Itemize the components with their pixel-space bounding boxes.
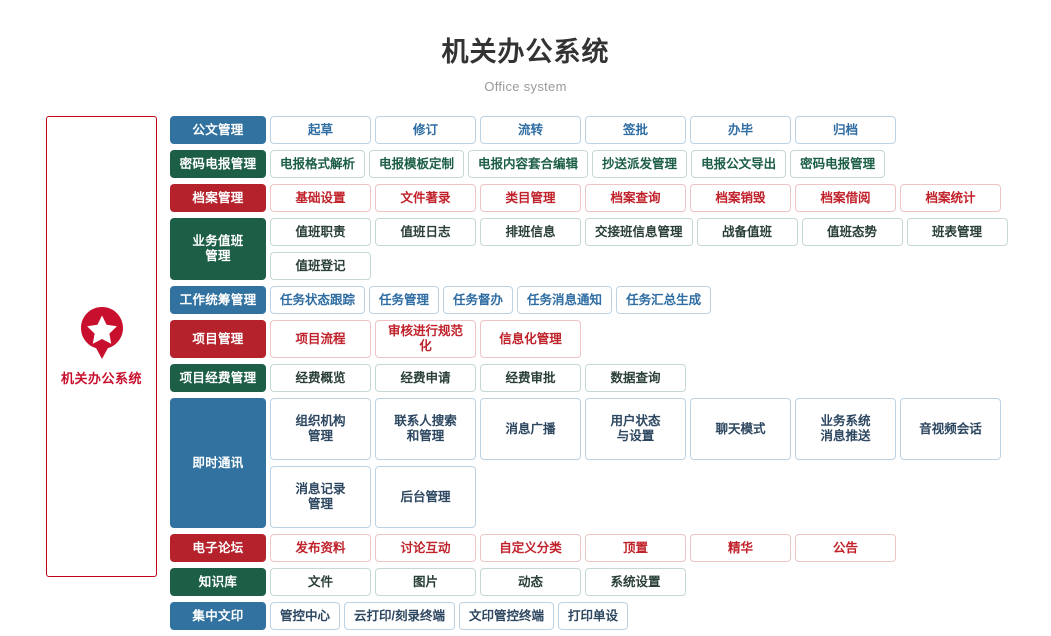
module-row-items: 电报格式解析电报模板定制电报内容套合编辑抄送派发管理电报公文导出密码电报管理 [270,150,1051,178]
module-row-label[interactable]: 档案管理 [170,184,266,212]
module-row-label[interactable]: 即时通讯 [170,398,266,528]
module-row: 密码电报管理电报格式解析电报模板定制电报内容套合编辑抄送派发管理电报公文导出密码… [170,150,1051,178]
module-button[interactable]: 聊天模式 [690,398,791,460]
module-button[interactable]: 归档 [795,116,896,144]
module-row: 项目经费管理经费概览经费申请经费审批数据查询 [170,364,1051,392]
module-items-line: 任务状态跟踪任务管理任务督办任务消息通知任务汇总生成 [270,286,1051,314]
module-items-line: 经费概览经费申请经费审批数据查询 [270,364,1051,392]
module-items-line: 起草修订流转签批办毕归档 [270,116,1051,144]
module-button[interactable]: 档案销毁 [690,184,791,212]
module-row: 集中文印管控中心云打印/刻录终端文印管控终端打印单设 [170,602,1051,630]
module-button[interactable]: 公告 [795,534,896,562]
module-row-label[interactable]: 工作统筹管理 [170,286,266,314]
module-button[interactable]: 班表管理 [907,218,1008,246]
module-items-line: 电报格式解析电报模板定制电报内容套合编辑抄送派发管理电报公文导出密码电报管理 [270,150,1051,178]
module-rows: 公文管理起草修订流转签批办毕归档密码电报管理电报格式解析电报模板定制电报内容套合… [170,116,1051,630]
module-row-items: 基础设置文件著录类目管理档案查询档案销毁档案借阅档案统计 [270,184,1051,212]
module-row-label[interactable]: 公文管理 [170,116,266,144]
module-button[interactable]: 流转 [480,116,581,144]
module-button[interactable]: 系统设置 [585,568,686,596]
module-button[interactable]: 值班职责 [270,218,371,246]
module-row-items: 发布资料讨论互动自定义分类顶置精华公告 [270,534,1051,562]
page-subtitle: Office system [0,79,1051,94]
module-button[interactable]: 交接班信息管理 [585,218,693,246]
module-button[interactable]: 基础设置 [270,184,371,212]
module-button[interactable]: 打印单设 [558,602,628,630]
module-button[interactable]: 用户状态 与设置 [585,398,686,460]
module-row-label[interactable]: 集中文印 [170,602,266,630]
module-items-line: 值班职责值班日志排班信息交接班信息管理战备值班值班态势班表管理 [270,218,1051,246]
module-button[interactable]: 战备值班 [697,218,798,246]
module-button[interactable]: 讨论互动 [375,534,476,562]
module-row: 电子论坛发布资料讨论互动自定义分类顶置精华公告 [170,534,1051,562]
module-row-label[interactable]: 项目管理 [170,320,266,358]
brand-panel: 机关办公系统 [46,116,157,577]
module-items-line: 文件图片动态系统设置 [270,568,1051,596]
module-row-items: 经费概览经费申请经费审批数据查询 [270,364,1051,392]
module-row-label[interactable]: 业务值班 管理 [170,218,266,280]
red-pin-star-icon [78,306,126,360]
module-button[interactable]: 音视频会话 [900,398,1001,460]
module-button[interactable]: 组织机构 管理 [270,398,371,460]
module-row: 工作统筹管理任务状态跟踪任务管理任务督办任务消息通知任务汇总生成 [170,286,1051,314]
module-button[interactable]: 档案统计 [900,184,1001,212]
module-button[interactable]: 文件著录 [375,184,476,212]
module-row-items: 文件图片动态系统设置 [270,568,1051,596]
module-button[interactable]: 值班态势 [802,218,903,246]
module-row-label[interactable]: 密码电报管理 [170,150,266,178]
module-button[interactable]: 经费概览 [270,364,371,392]
module-button[interactable]: 顶置 [585,534,686,562]
module-button[interactable]: 任务消息通知 [517,286,612,314]
module-button[interactable]: 任务状态跟踪 [270,286,365,314]
module-button[interactable]: 电报模板定制 [369,150,464,178]
module-button[interactable]: 项目流程 [270,320,371,358]
module-items-line: 消息记录 管理后台管理 [270,466,1051,528]
module-button[interactable]: 电报内容套合编辑 [468,150,588,178]
module-button[interactable]: 消息记录 管理 [270,466,371,528]
module-button[interactable]: 类目管理 [480,184,581,212]
module-items-line: 管控中心云打印/刻录终端文印管控终端打印单设 [270,602,1051,630]
module-button[interactable]: 后台管理 [375,466,476,528]
module-button[interactable]: 经费申请 [375,364,476,392]
module-row-items: 值班职责值班日志排班信息交接班信息管理战备值班值班态势班表管理值班登记 [270,218,1051,280]
module-button[interactable]: 云打印/刻录终端 [344,602,455,630]
module-row-items: 起草修订流转签批办毕归档 [270,116,1051,144]
module-row: 即时通讯组织机构 管理联系人搜索 和管理消息广播用户状态 与设置聊天模式业务系统… [170,398,1051,528]
module-button[interactable]: 电报格式解析 [270,150,365,178]
module-button[interactable]: 管控中心 [270,602,340,630]
module-row: 项目管理项目流程审核进行规范化信息化管理 [170,320,1051,358]
content-area: 机关办公系统 公文管理起草修订流转签批办毕归档密码电报管理电报格式解析电报模板定… [0,116,1051,630]
module-row-items: 项目流程审核进行规范化信息化管理 [270,320,1051,358]
module-button[interactable]: 消息广播 [480,398,581,460]
module-button[interactable]: 经费审批 [480,364,581,392]
module-row: 档案管理基础设置文件著录类目管理档案查询档案销毁档案借阅档案统计 [170,184,1051,212]
module-button[interactable]: 电报公文导出 [691,150,786,178]
module-button[interactable]: 办毕 [690,116,791,144]
module-button[interactable]: 档案借阅 [795,184,896,212]
module-button[interactable]: 审核进行规范化 [375,320,476,358]
module-button[interactable]: 文印管控终端 [459,602,554,630]
module-row: 知识库文件图片动态系统设置 [170,568,1051,596]
module-button[interactable]: 修订 [375,116,476,144]
module-button[interactable]: 值班登记 [270,252,371,280]
module-button[interactable]: 自定义分类 [480,534,581,562]
module-button[interactable]: 签批 [585,116,686,144]
module-row-label[interactable]: 知识库 [170,568,266,596]
module-button[interactable]: 档案查询 [585,184,686,212]
module-row: 业务值班 管理值班职责值班日志排班信息交接班信息管理战备值班值班态势班表管理值班… [170,218,1051,280]
module-items-line: 发布资料讨论互动自定义分类顶置精华公告 [270,534,1051,562]
module-button[interactable]: 信息化管理 [480,320,581,358]
module-button[interactable]: 精华 [690,534,791,562]
module-items-line: 组织机构 管理联系人搜索 和管理消息广播用户状态 与设置聊天模式业务系统 消息推… [270,398,1051,460]
module-button[interactable]: 文件 [270,568,371,596]
page-header: 机关办公系统 Office system [0,0,1051,94]
module-button[interactable]: 业务系统 消息推送 [795,398,896,460]
module-row-label[interactable]: 电子论坛 [170,534,266,562]
module-row-items: 任务状态跟踪任务管理任务督办任务消息通知任务汇总生成 [270,286,1051,314]
module-items-line: 基础设置文件著录类目管理档案查询档案销毁档案借阅档案统计 [270,184,1051,212]
module-button[interactable]: 发布资料 [270,534,371,562]
module-button[interactable]: 任务汇总生成 [616,286,711,314]
module-button[interactable]: 动态 [480,568,581,596]
module-button[interactable]: 值班日志 [375,218,476,246]
brand-name: 机关办公系统 [61,368,142,387]
module-items-line: 项目流程审核进行规范化信息化管理 [270,320,1051,358]
module-row-label[interactable]: 项目经费管理 [170,364,266,392]
module-button[interactable]: 抄送派发管理 [592,150,687,178]
module-button[interactable]: 任务管理 [369,286,439,314]
module-button[interactable]: 起草 [270,116,371,144]
module-button[interactable]: 密码电报管理 [790,150,885,178]
page-title: 机关办公系统 [0,36,1051,68]
module-button[interactable]: 联系人搜索 和管理 [375,398,476,460]
module-button[interactable]: 排班信息 [480,218,581,246]
module-button[interactable]: 图片 [375,568,476,596]
module-row: 公文管理起草修订流转签批办毕归档 [170,116,1051,144]
module-button[interactable]: 任务督办 [443,286,513,314]
module-button[interactable]: 数据查询 [585,364,686,392]
module-items-line: 值班登记 [270,252,1051,280]
module-row-items: 管控中心云打印/刻录终端文印管控终端打印单设 [270,602,1051,630]
module-row-items: 组织机构 管理联系人搜索 和管理消息广播用户状态 与设置聊天模式业务系统 消息推… [270,398,1051,528]
